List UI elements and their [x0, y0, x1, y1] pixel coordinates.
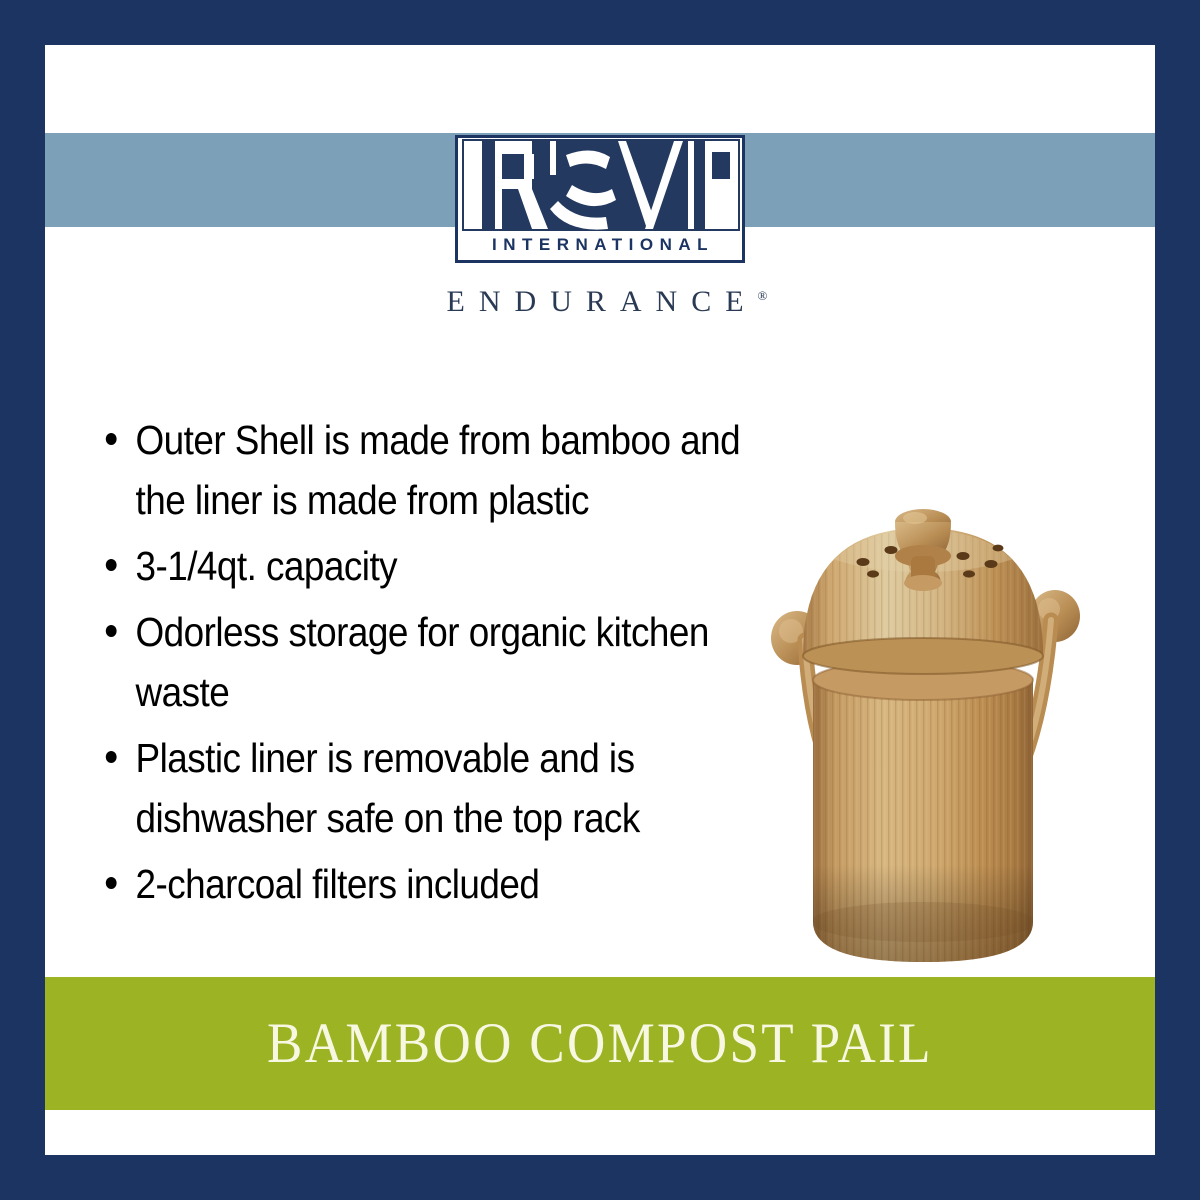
list-item: 3-1/4qt. capacity [95, 536, 779, 596]
rsvp-wordmark-icon [462, 139, 740, 231]
product-name-banner: BAMBOO COMPOST PAIL [45, 977, 1155, 1110]
bullet-icon [106, 751, 117, 763]
product-line-name: ENDURANCE® [45, 285, 1155, 319]
feature-text: 3-1/4qt. capacity [136, 543, 398, 589]
rsvp-logo-subtext: INTERNATIONAL [458, 230, 742, 260]
product-line-label: ENDURANCE [447, 285, 758, 318]
bullet-icon [106, 877, 117, 889]
list-item: 2-charcoal filters included [95, 854, 779, 914]
feature-list: Outer Shell is made from bamboo and the … [95, 410, 855, 920]
bullet-icon [106, 559, 117, 571]
registered-mark: ® [758, 288, 768, 303]
bullet-icon [106, 433, 117, 445]
pail-lid [801, 492, 1045, 674]
list-item: Odorless storage for organic kitchen was… [95, 602, 779, 722]
list-item: Plastic liner is removable and is dishwa… [95, 728, 779, 848]
page-title: BAMBOO COMPOST PAIL [267, 1011, 933, 1076]
product-infographic: INTERNATIONAL ENDURANCE® Outer Shell is … [0, 0, 1200, 1200]
feature-text: Outer Shell is made from bamboo and the … [136, 417, 741, 523]
list-item: Outer Shell is made from bamboo and the … [95, 410, 779, 530]
pail-body [811, 660, 1035, 970]
feature-text: 2-charcoal filters included [136, 861, 540, 907]
feature-text: Plastic liner is removable and is dishwa… [136, 735, 640, 841]
bullet-icon [106, 625, 117, 637]
rsvp-logo: INTERNATIONAL [455, 135, 745, 263]
poster-content: INTERNATIONAL ENDURANCE® Outer Shell is … [45, 45, 1155, 1155]
product-image [755, 470, 1155, 1000]
feature-text: Odorless storage for organic kitchen was… [136, 609, 709, 715]
